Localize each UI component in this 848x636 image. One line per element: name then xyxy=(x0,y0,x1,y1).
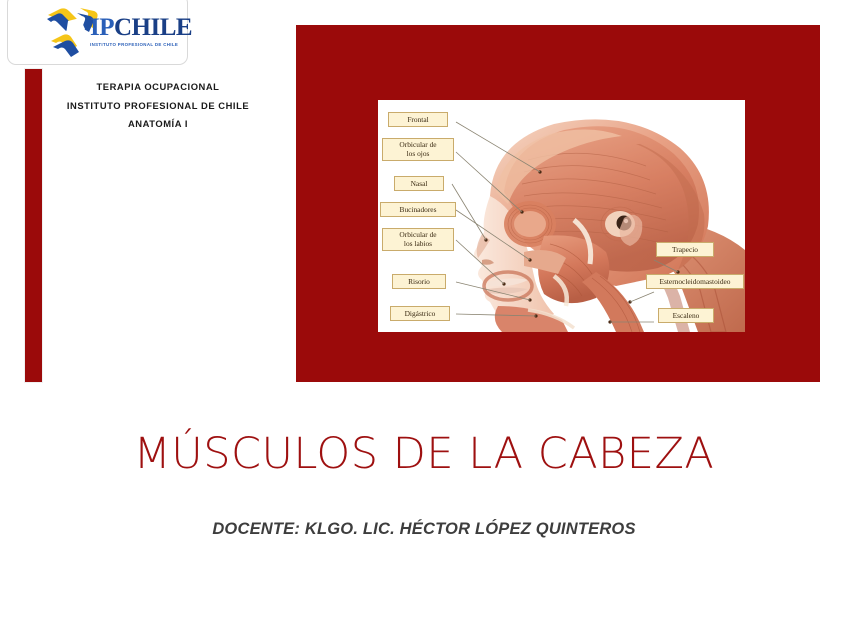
figure-label-bucinadores: Bucinadores xyxy=(380,202,456,217)
figure-label-digastrico: Digástrico xyxy=(390,306,450,321)
figure-label-frontal: Frontal xyxy=(388,112,448,127)
header-line-1: TERAPIA OCUPACIONAL xyxy=(48,78,268,97)
logo-word-chile: CHILE xyxy=(114,14,192,41)
slide-canvas: IPCHILE INSTITUTO PROFESIONAL DE CHILE T… xyxy=(0,0,848,636)
logo-inner: IPCHILE INSTITUTO PROFESIONAL DE CHILE xyxy=(8,3,187,61)
figure-label-orbicular-ojos: Orbicular de los ojos xyxy=(382,138,454,161)
logo-wordmark: IPCHILE INSTITUTO PROFESIONAL DE CHILE xyxy=(90,15,188,55)
label-line-2: los labios xyxy=(404,239,432,248)
label-line-2: los ojos xyxy=(407,149,430,158)
anatomy-figure: Frontal Orbicular de los ojos Nasal Buci… xyxy=(378,100,745,332)
logo-card: IPCHILE INSTITUTO PROFESIONAL DE CHILE xyxy=(7,0,188,65)
figure-label-risorio: Risorio xyxy=(392,274,446,289)
header-text-block: TERAPIA OCUPACIONAL INSTITUTO PROFESIONA… xyxy=(48,78,268,134)
figure-label-nasal: Nasal xyxy=(394,176,444,191)
logo-tagline: INSTITUTO PROFESIONAL DE CHILE xyxy=(90,42,188,47)
left-accent-bar xyxy=(25,69,42,382)
red-image-panel: Frontal Orbicular de los ojos Nasal Buci… xyxy=(296,25,820,382)
figure-label-orbicular-labios: Orbicular de los labios xyxy=(382,228,454,251)
header-line-3: ANATOMÍA I xyxy=(48,115,268,134)
header-line-2: INSTITUTO PROFESIONAL DE CHILE xyxy=(48,97,268,116)
figure-label-trapecio: Trapecio xyxy=(656,242,714,257)
slide-subtitle: DOCENTE: KLGO. LIC. HÉCTOR LÓPEZ QUINTER… xyxy=(0,518,848,540)
figure-label-esternocleidomastoideo: Esternocleidomastoideo xyxy=(646,274,744,289)
logo-word-ip: IP xyxy=(90,14,114,41)
slide-title: MÚSCULOS DE LA CABEZA xyxy=(0,428,848,480)
figure-label-escaleno: Escaleno xyxy=(658,308,714,323)
